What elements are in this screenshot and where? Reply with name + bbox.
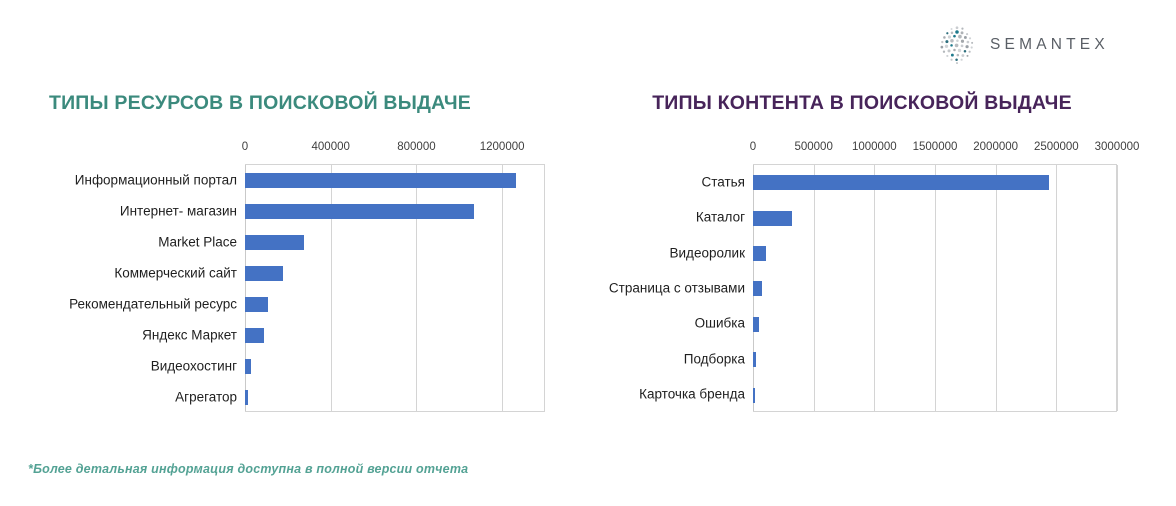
- bar[interactable]: [753, 175, 1049, 190]
- category-label: Интернет- магазин: [120, 204, 237, 218]
- slide-root: { "brand": { "name": "SEMANTEX", "logo_i…: [0, 0, 1176, 506]
- bar[interactable]: [245, 297, 268, 312]
- gridline: [1117, 165, 1118, 411]
- x-tick-label: 2000000: [973, 141, 1018, 153]
- x-tick-label: 0: [242, 141, 248, 153]
- x-tick-label: 1200000: [480, 141, 525, 153]
- x-axis-content-types: 0500000100000015000002000000250000030000…: [753, 141, 1117, 161]
- bar-row[interactable]: [245, 320, 545, 351]
- x-axis-resource-types: 04000008000001200000: [245, 141, 545, 161]
- plot-content-types: [753, 164, 1117, 412]
- bar-row[interactable]: [753, 271, 1117, 306]
- bar-row[interactable]: [245, 258, 545, 289]
- bar-row[interactable]: [753, 307, 1117, 342]
- y-axis-labels-resource-types: Информационный порталИнтернет- магазинMa…: [0, 164, 245, 412]
- bar-row[interactable]: [753, 236, 1117, 271]
- bar[interactable]: [245, 173, 516, 188]
- bar[interactable]: [753, 352, 756, 367]
- category-label: Страница с отзывами: [609, 281, 745, 295]
- bar-row[interactable]: [245, 289, 545, 320]
- y-axis-labels-content-types: СтатьяКаталогВидеороликСтраница с отзыва…: [612, 164, 753, 412]
- category-label: Видеоролик: [670, 246, 745, 260]
- bar-row[interactable]: [245, 227, 545, 258]
- bar[interactable]: [753, 211, 792, 226]
- category-label: Статья: [701, 175, 745, 189]
- x-tick-label: 3000000: [1095, 141, 1140, 153]
- chart-title-content-types: ТИПЫ КОНТЕНТА В ПОИСКОВОЙ ВЫДАЧЕ: [612, 92, 1112, 115]
- category-label: Карточка бренда: [639, 387, 745, 401]
- bar-row[interactable]: [245, 165, 545, 196]
- x-tick-label: 400000: [312, 141, 350, 153]
- bar[interactable]: [753, 388, 755, 403]
- bar-row[interactable]: [245, 351, 545, 382]
- bar[interactable]: [753, 317, 759, 332]
- chart-area-resource-types: 04000008000001200000 Информационный порт…: [0, 141, 545, 412]
- chart-area-content-types: 0500000100000015000002000000250000030000…: [612, 141, 1172, 412]
- bar[interactable]: [245, 235, 304, 250]
- bar-row[interactable]: [753, 377, 1117, 412]
- category-label: Видеохостинг: [151, 359, 237, 373]
- x-tick-label: 1500000: [913, 141, 958, 153]
- footnote: *Более детальная информация доступна в п…: [28, 462, 468, 476]
- category-label: Информационный портал: [75, 173, 237, 187]
- chart-panel-resource-types: ТИПЫ РЕСУРСОВ В ПОИСКОВОЙ ВЫДАЧЕ 0400000…: [0, 92, 560, 412]
- x-tick-label: 2500000: [1034, 141, 1079, 153]
- bar-row[interactable]: [753, 200, 1117, 235]
- bar[interactable]: [245, 359, 251, 374]
- x-tick-label: 800000: [397, 141, 435, 153]
- chart-panel-content-types: ТИПЫ КОНТЕНТА В ПОИСКОВОЙ ВЫДАЧЕ 0500000…: [612, 92, 1176, 412]
- bar[interactable]: [753, 246, 766, 261]
- x-tick-label: 0: [750, 141, 756, 153]
- category-label: Market Place: [158, 235, 237, 249]
- bar[interactable]: [245, 204, 474, 219]
- bar-row[interactable]: [753, 342, 1117, 377]
- category-label: Коммерческий сайт: [114, 266, 237, 280]
- brand-logo: SEMANTEX: [936, 24, 1109, 66]
- category-label: Агрегатор: [175, 390, 237, 404]
- category-label: Ошибка: [695, 317, 745, 331]
- bar-row[interactable]: [245, 196, 545, 227]
- bar[interactable]: [245, 266, 283, 281]
- chart-title-resource-types: ТИПЫ РЕСУРСОВ В ПОИСКОВОЙ ВЫДАЧЕ: [0, 92, 520, 115]
- plot-resource-types: [245, 164, 545, 412]
- x-tick-label: 1000000: [852, 141, 897, 153]
- category-label: Яндекс Маркет: [142, 328, 237, 342]
- bar-row[interactable]: [753, 165, 1117, 200]
- bar[interactable]: [753, 281, 762, 296]
- category-label: Подборка: [684, 352, 745, 366]
- bar-row[interactable]: [245, 382, 545, 413]
- molecule-dots-icon: [936, 24, 978, 66]
- brand-wordmark: SEMANTEX: [990, 36, 1109, 54]
- category-label: Рекомендательный ресурс: [69, 297, 237, 311]
- bar[interactable]: [245, 390, 248, 405]
- bar[interactable]: [245, 328, 264, 343]
- category-label: Каталог: [696, 210, 745, 224]
- bar-series-resource-types: [245, 165, 545, 411]
- x-tick-label: 500000: [794, 141, 832, 153]
- bar-series-content-types: [753, 165, 1117, 411]
